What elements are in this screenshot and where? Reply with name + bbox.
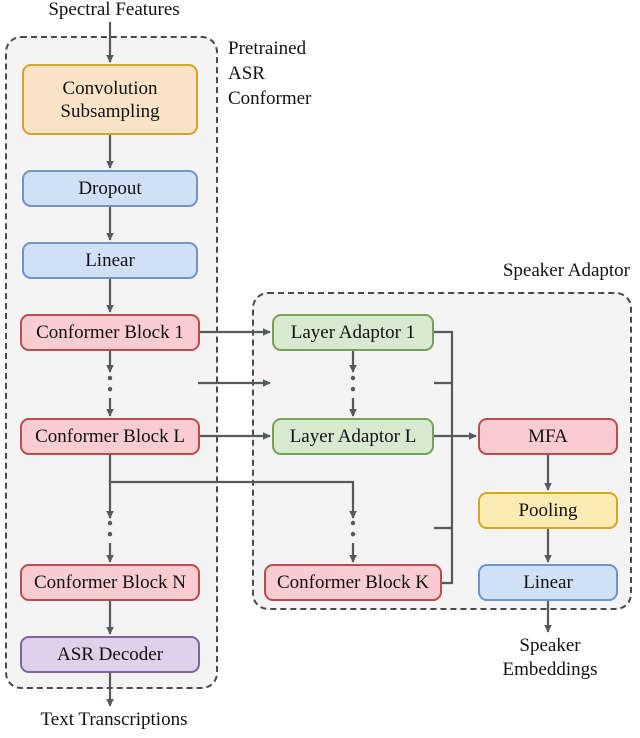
caption-pretrained-asr-conformer: Pretrained ASR Conformer xyxy=(228,36,311,111)
node-conformer-block-n[interactable]: Conformer Block N xyxy=(20,564,200,601)
node-pooling[interactable]: Pooling xyxy=(478,492,618,529)
node-mfa[interactable]: MFA xyxy=(478,418,618,455)
node-layer-adaptor-1[interactable]: Layer Adaptor 1 xyxy=(272,314,434,351)
node-layer-adaptor-l[interactable]: Layer Adaptor L xyxy=(272,418,434,455)
label-spectral-features: Spectral Features xyxy=(0,0,228,22)
node-conformer-block-l[interactable]: Conformer Block L xyxy=(20,418,200,455)
node-linear[interactable]: Linear xyxy=(22,242,198,279)
node-linear-output[interactable]: Linear xyxy=(478,564,618,601)
node-convolution-subsampling[interactable]: Convolution Subsampling xyxy=(22,64,198,135)
node-asr-decoder[interactable]: ASR Decoder xyxy=(20,636,200,673)
node-dropout[interactable]: Dropout xyxy=(22,170,198,207)
node-conformer-block-k[interactable]: Conformer Block K xyxy=(264,564,442,601)
caption-speaker-adaptor: Speaker Adaptor xyxy=(412,258,630,283)
label-speaker-embeddings: Speaker Embeddings xyxy=(462,634,638,682)
diagram-canvas: Spectral Features Text Transcriptions Sp… xyxy=(0,0,640,738)
node-conformer-block-1[interactable]: Conformer Block 1 xyxy=(20,314,200,351)
label-text-transcriptions: Text Transcriptions xyxy=(0,708,228,732)
